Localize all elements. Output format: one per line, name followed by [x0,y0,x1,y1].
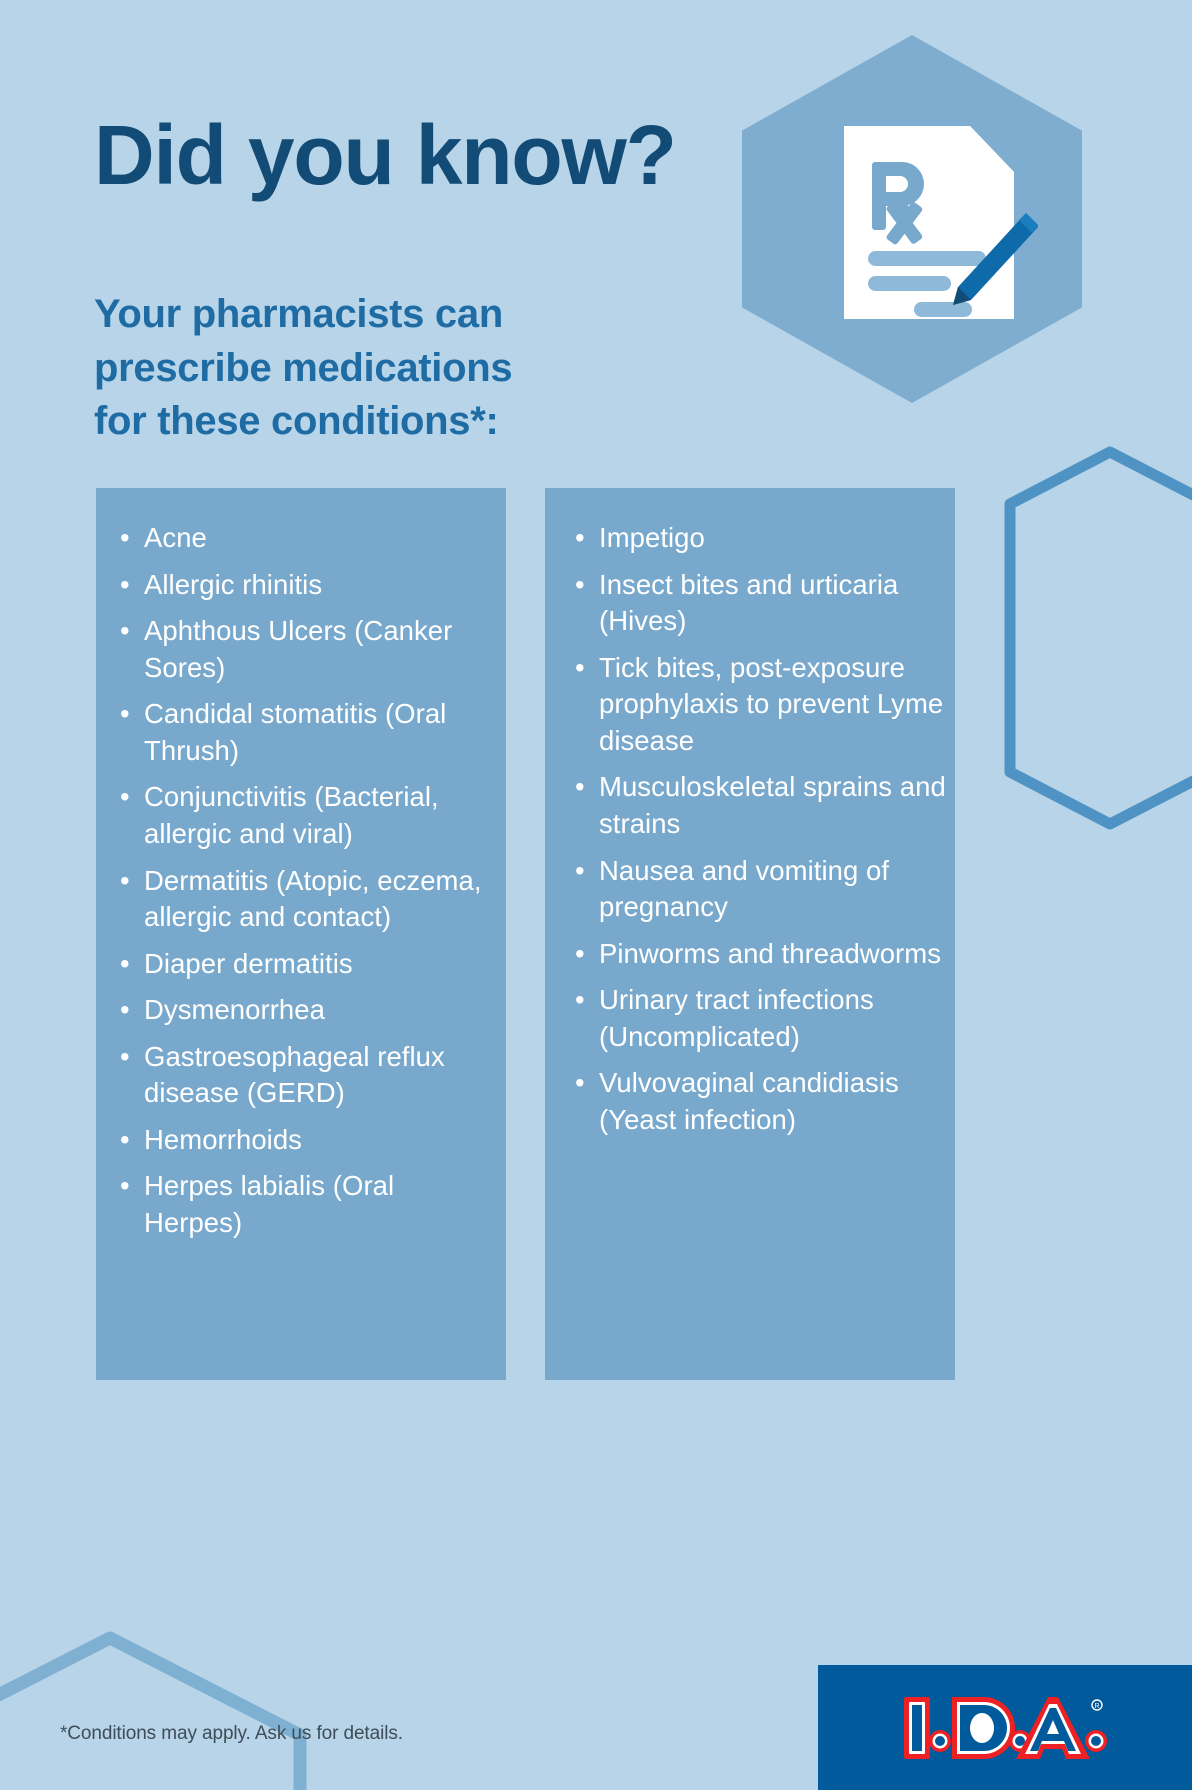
list-item-label: Aphthous Ulcers (Canker Sores) [144,615,452,683]
bullet-icon: • [120,863,130,900]
svg-text:R: R [1094,1703,1099,1710]
bullet-icon: • [120,946,130,983]
bullet-icon: • [575,520,585,557]
bullet-icon: • [575,982,585,1019]
subtitle-line-2: prescribe medications [94,342,654,396]
list-item: •Nausea and vomiting of pregnancy [573,853,951,926]
bullet-icon: • [120,520,130,557]
bullet-icon: • [575,650,585,687]
list-item: •Dermatitis (Atopic, eczema, allergic an… [118,863,496,936]
list-item: •Diaper dermatitis [118,946,496,983]
list-item: •Conjunctivitis (Bacterial, allergic and… [118,779,496,852]
list-item: •Urinary tract infections (Uncomplicated… [573,982,951,1055]
list-item-label: Impetigo [599,522,705,553]
list-item-label: Acne [144,522,207,553]
hexagon-outline-icon [0,1638,300,1790]
list-item-label: Conjunctivitis (Bacterial, allergic and … [144,781,439,849]
bullet-icon: • [120,779,130,816]
list-item-label: Gastroesophageal reflux disease (GERD) [144,1041,445,1109]
list-item: •Herpes labialis (Oral Herpes) [118,1168,496,1241]
bullet-icon: • [575,769,585,806]
list-item: •Allergic rhinitis [118,567,496,604]
list-item-label: Candidal stomatitis (Oral Thrush) [144,698,446,766]
bullet-icon: • [120,1122,130,1159]
bullet-icon: • [575,936,585,973]
hexagon-outline-icon [1010,452,1192,824]
bullet-icon: • [120,696,130,733]
list-item: •Acne [118,520,496,557]
page-subtitle: Your pharmacists can prescribe medicatio… [94,288,654,449]
list-item-label: Allergic rhinitis [144,569,322,600]
conditions-list-left: •Acne •Allergic rhinitis •Aphthous Ulcer… [118,520,496,1252]
page-title: Did you know? [94,113,676,197]
list-item-label: Tick bites, post-exposure prophylaxis to… [599,652,943,756]
list-item-label: Vulvovaginal candidiasis (Yeast infectio… [599,1067,899,1135]
bullet-icon: • [575,567,585,604]
list-item-label: Nausea and vomiting of pregnancy [599,855,889,923]
list-item: •Dysmenorrhea [118,992,496,1029]
list-item-label: Herpes labialis (Oral Herpes) [144,1170,394,1238]
list-item-label: Diaper dermatitis [144,948,353,979]
bullet-icon: • [120,992,130,1029]
list-item-label: Hemorrhoids [144,1124,302,1155]
subtitle-line-3: for these conditions*: [94,395,654,449]
list-item-label: Dysmenorrhea [144,994,325,1025]
conditions-list-right: •Impetigo •Insect bites and urticaria (H… [573,520,951,1148]
subtitle-line-1: Your pharmacists can [94,288,654,342]
list-item-label: Pinworms and threadworms [599,938,941,969]
list-item: •Insect bites and urticaria (Hives) [573,567,951,640]
bullet-icon: • [120,1168,130,1205]
list-item: •Hemorrhoids [118,1122,496,1159]
list-item: •Pinworms and threadworms [573,936,951,973]
poster-root: Did you know? Your pharmacists can presc… [0,0,1192,1790]
list-item: •Vulvovaginal candidiasis (Yeast infecti… [573,1065,951,1138]
bullet-icon: • [575,1065,585,1102]
bullet-icon: • [120,567,130,604]
ida-logo-icon: R [900,1689,1110,1767]
list-item: •Candidal stomatitis (Oral Thrush) [118,696,496,769]
bullet-icon: • [120,1039,130,1076]
list-item-label: Dermatitis (Atopic, eczema, allergic and… [144,865,482,933]
bullet-icon: • [575,853,585,890]
list-item-label: Insect bites and urticaria (Hives) [599,569,898,637]
bullet-icon: • [120,613,130,650]
list-item-label: Musculoskeletal sprains and strains [599,771,946,839]
list-item: •Musculoskeletal sprains and strains [573,769,951,842]
list-item: •Tick bites, post-exposure prophylaxis t… [573,650,951,760]
prescription-rx-document-icon [838,120,1038,325]
ida-logo: R [818,1665,1192,1790]
conditions-panel-left: •Acne •Allergic rhinitis •Aphthous Ulcer… [96,488,506,1380]
list-item: •Aphthous Ulcers (Canker Sores) [118,613,496,686]
conditions-panel-right: •Impetigo •Insect bites and urticaria (H… [545,488,955,1380]
list-item-label: Urinary tract infections (Uncomplicated) [599,984,874,1052]
list-item: •Gastroesophageal reflux disease (GERD) [118,1039,496,1112]
footnote: *Conditions may apply. Ask us for detail… [60,1723,403,1745]
list-item: •Impetigo [573,520,951,557]
